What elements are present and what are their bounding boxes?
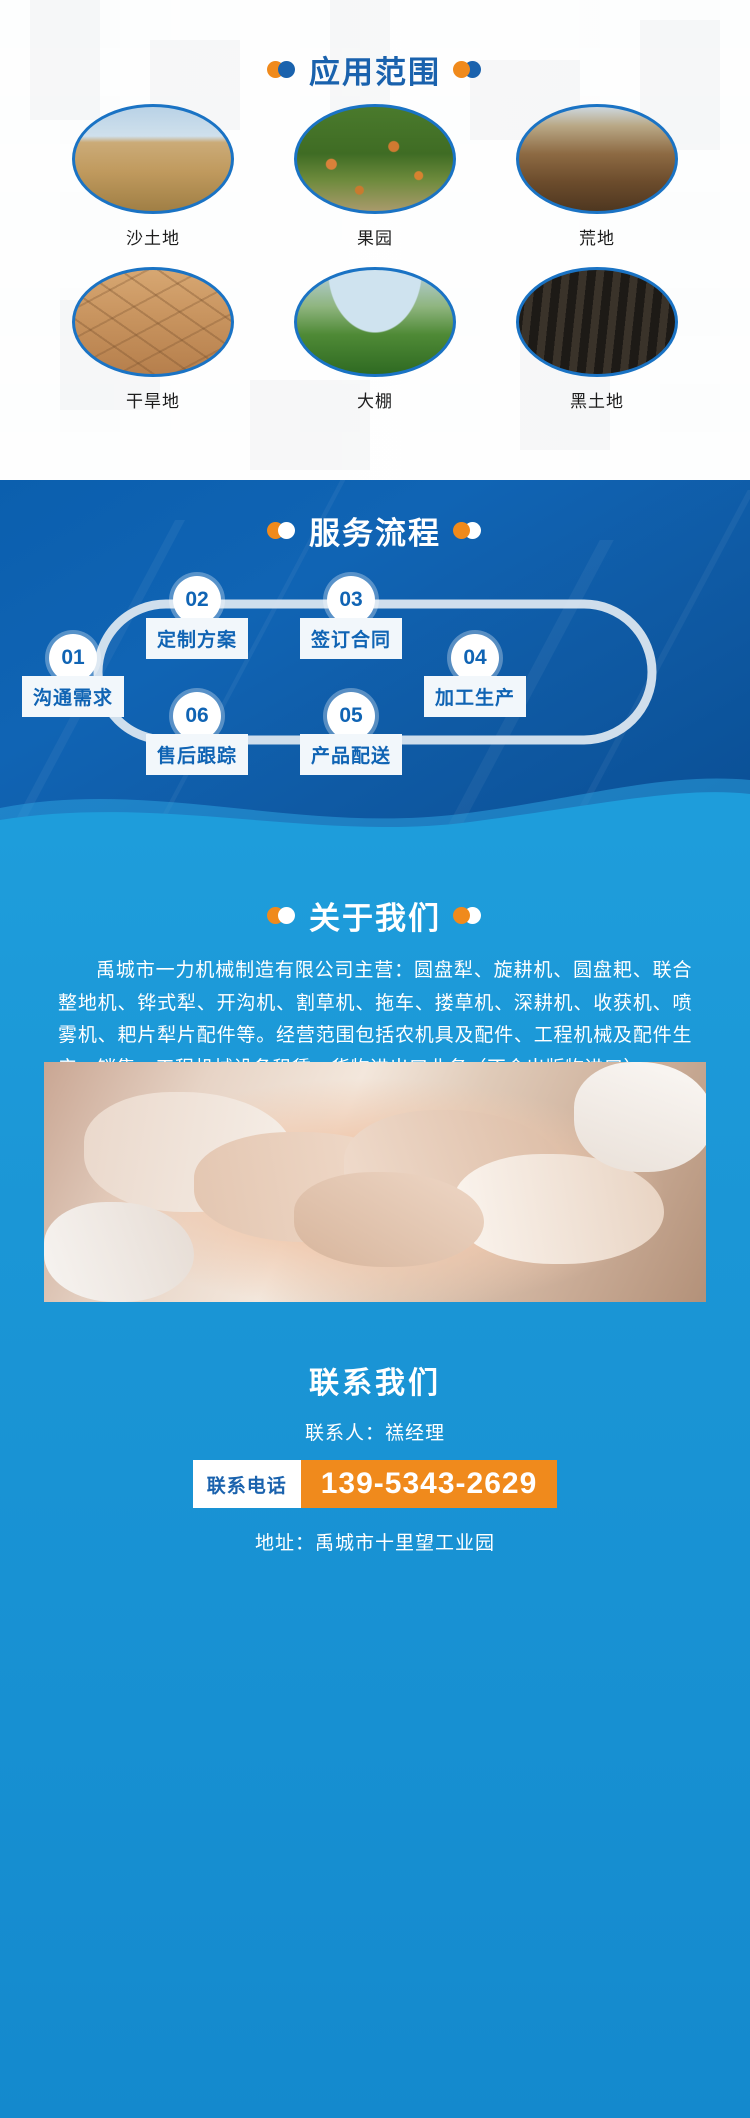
flow-step-label: 加工生产: [424, 676, 526, 717]
flow-step-01[interactable]: 01 沟通需求: [22, 634, 124, 717]
contact-title: 联系我们: [0, 1358, 750, 1402]
dots-left-icon: [267, 61, 297, 78]
flow-step-number: 02: [173, 576, 221, 624]
flow-step-02[interactable]: 02 定制方案: [146, 576, 248, 659]
flow-step-label: 签订合同: [300, 618, 402, 659]
handshake-team-photo: [44, 1062, 706, 1302]
dots-right-icon: [453, 907, 483, 924]
application-scope-grid: 沙土地 果园 荒地 干旱地 大棚 黑土地: [0, 104, 750, 430]
scope-item-label: 大棚: [294, 387, 456, 412]
page-title: 服务流程: [309, 508, 441, 553]
section-title: 关于我们: [0, 893, 750, 938]
scope-item-sandy-soil[interactable]: 沙土地: [72, 104, 234, 249]
scope-row-1: 沙土地 果园 荒地: [0, 104, 750, 249]
service-flow-diagram: 01 沟通需求 02 定制方案 03 签订合同 04 加工生产 05 产品配送 …: [0, 576, 750, 786]
flow-step-number: 01: [49, 634, 97, 682]
section-title: 应用范围: [0, 47, 750, 92]
black-soil-photo: [516, 267, 678, 377]
scope-item-wasteland[interactable]: 荒地: [516, 104, 678, 249]
scope-item-greenhouse[interactable]: 大棚: [294, 267, 456, 412]
flow-step-number: 06: [173, 692, 221, 740]
scope-item-arid-land[interactable]: 干旱地: [72, 267, 234, 412]
application-scope-title-wrap: 应用范围: [0, 47, 750, 92]
scope-item-label: 荒地: [516, 224, 678, 249]
phone-label: 联系电话: [193, 1460, 301, 1508]
dots-left-icon: [267, 907, 297, 924]
application-scope-section: 应用范围 沙土地 果园 荒地 干旱地: [0, 0, 750, 480]
flow-step-number: 03: [327, 576, 375, 624]
about-and-contact-section: 关于我们 禹城市一力机械制造有限公司主营：圆盘犁、旋耕机、圆盘耙、联合整地机、铧…: [0, 830, 750, 2118]
scope-item-label: 沙土地: [72, 224, 234, 249]
service-flow-title-wrap: 服务流程: [0, 508, 750, 553]
dots-left-icon: [267, 522, 297, 539]
section-title: 服务流程: [0, 508, 750, 553]
dots-right-icon: [453, 522, 483, 539]
flow-step-label: 定制方案: [146, 618, 248, 659]
page-title: 应用范围: [309, 47, 441, 92]
scope-item-label: 果园: [294, 224, 456, 249]
flow-step-number: 05: [327, 692, 375, 740]
flow-step-03[interactable]: 03 签订合同: [300, 576, 402, 659]
flow-step-number: 04: [451, 634, 499, 682]
contact-phone-row[interactable]: 联系电话 139-5343-2629: [0, 1460, 750, 1508]
phone-number[interactable]: 139-5343-2629: [301, 1460, 558, 1508]
contact-person: 联系人：禚经理: [0, 1418, 750, 1445]
scope-item-label: 黑土地: [516, 387, 678, 412]
contact-address: 地址：禹城市十里望工业园: [0, 1528, 750, 1555]
wasteland-photo: [516, 104, 678, 214]
page-title: 关于我们: [309, 893, 441, 938]
sandy-soil-photo: [72, 104, 234, 214]
scope-item-black-soil[interactable]: 黑土地: [516, 267, 678, 412]
dots-right-icon: [453, 61, 483, 78]
scope-item-label: 干旱地: [72, 387, 234, 412]
arid-land-photo: [72, 267, 234, 377]
service-flow-section: 服务流程 01 沟通需求 02 定制方案 03 签订合同 04 加工生产 05 …: [0, 480, 750, 830]
scope-row-2: 干旱地 大棚 黑土地: [0, 267, 750, 412]
wave-divider-icon: [0, 756, 750, 830]
scope-item-orchard[interactable]: 果园: [294, 104, 456, 249]
flow-step-label: 沟通需求: [22, 676, 124, 717]
about-title-wrap: 关于我们: [0, 893, 750, 938]
orchard-photo: [294, 104, 456, 214]
flow-step-04[interactable]: 04 加工生产: [424, 634, 526, 717]
greenhouse-photo: [294, 267, 456, 377]
